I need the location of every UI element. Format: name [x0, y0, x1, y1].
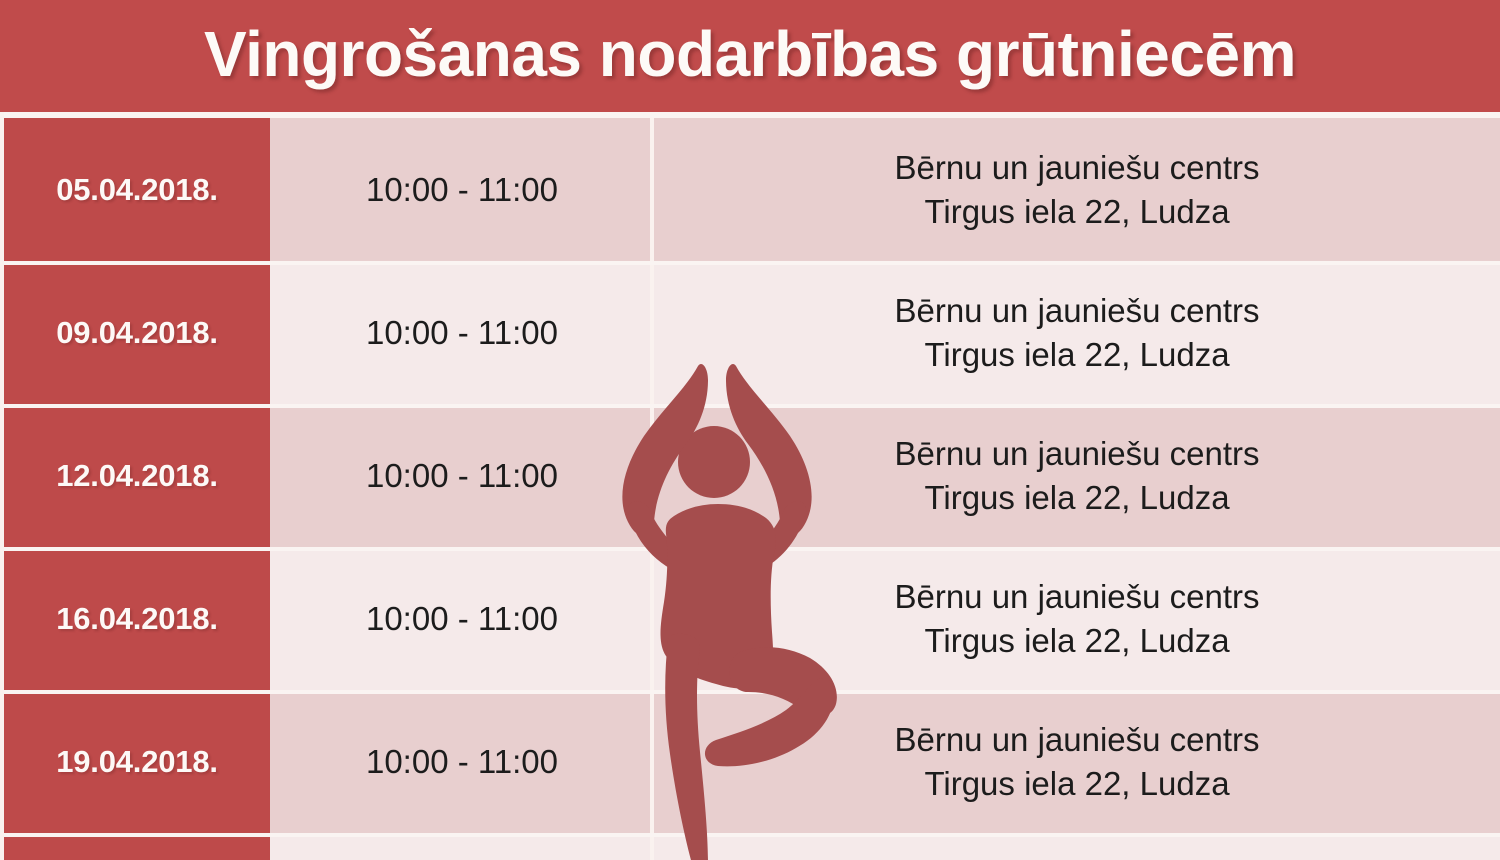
page-title: Vingrošanas nodarbības grūtniecēm: [204, 22, 1296, 90]
time-text: 10:00 - 11:00: [366, 314, 558, 352]
venue-name: Bērnu un jauniešu centrs: [894, 289, 1259, 333]
table-row: [0, 833, 1500, 860]
date-cell: 12.04.2018.: [4, 404, 270, 547]
time-cell: 10:00 - 11:00: [274, 547, 650, 690]
poster-canvas: Vingrošanas nodarbības grūtniecēm 05.04.…: [0, 0, 1500, 860]
date-text: 16.04.2018.: [56, 601, 218, 637]
time-text: 10:00 - 11:00: [366, 457, 558, 495]
table-row: 12.04.2018.10:00 - 11:00Bērnu un jaunieš…: [0, 404, 1500, 547]
time-text: 10:00 - 11:00: [366, 743, 558, 781]
venue-cell: Bērnu un jauniešu centrsTirgus iela 22, …: [654, 118, 1500, 261]
time-text: 10:00 - 11:00: [366, 171, 558, 209]
time-cell: 10:00 - 11:00: [274, 690, 650, 833]
venue-cell: Bērnu un jauniešu centrsTirgus iela 22, …: [654, 404, 1500, 547]
time-text: 10:00 - 11:00: [366, 600, 558, 638]
time-cell: 10:00 - 11:00: [274, 404, 650, 547]
time-cell: 10:00 - 11:00: [274, 118, 650, 261]
venue-name: Bērnu un jauniešu centrs: [894, 146, 1259, 190]
venue-name: Bērnu un jauniešu centrs: [894, 432, 1259, 476]
venue-cell: Bērnu un jauniešu centrsTirgus iela 22, …: [654, 261, 1500, 404]
venue-cell: Bērnu un jauniešu centrsTirgus iela 22, …: [654, 690, 1500, 833]
time-cell: [274, 833, 650, 860]
venue-address: Tirgus iela 22, Ludza: [924, 333, 1229, 377]
table-row: 16.04.2018.10:00 - 11:00Bērnu un jaunieš…: [0, 547, 1500, 690]
venue-address: Tirgus iela 22, Ludza: [924, 476, 1229, 520]
time-cell: 10:00 - 11:00: [274, 261, 650, 404]
table-row: 05.04.2018.10:00 - 11:00Bērnu un jaunieš…: [0, 118, 1500, 261]
date-text: 05.04.2018.: [56, 172, 218, 208]
schedule-table: 05.04.2018.10:00 - 11:00Bērnu un jaunieš…: [0, 118, 1500, 860]
venue-address: Tirgus iela 22, Ludza: [924, 619, 1229, 663]
date-cell: [4, 833, 270, 860]
venue-address: Tirgus iela 22, Ludza: [924, 762, 1229, 806]
venue-cell: Bērnu un jauniešu centrsTirgus iela 22, …: [654, 547, 1500, 690]
poster-header-band: Vingrošanas nodarbības grūtniecēm: [0, 0, 1500, 112]
date-text: 12.04.2018.: [56, 458, 218, 494]
date-cell: 05.04.2018.: [4, 118, 270, 261]
date-cell: 16.04.2018.: [4, 547, 270, 690]
date-cell: 19.04.2018.: [4, 690, 270, 833]
venue-cell: [654, 833, 1500, 860]
venue-name: Bērnu un jauniešu centrs: [894, 718, 1259, 762]
date-text: 09.04.2018.: [56, 315, 218, 351]
table-row: 19.04.2018.10:00 - 11:00Bērnu un jaunieš…: [0, 690, 1500, 833]
date-text: 19.04.2018.: [56, 744, 218, 780]
venue-address: Tirgus iela 22, Ludza: [924, 190, 1229, 234]
left-edge-strip: [0, 112, 4, 860]
table-row: 09.04.2018.10:00 - 11:00Bērnu un jaunieš…: [0, 261, 1500, 404]
date-cell: 09.04.2018.: [4, 261, 270, 404]
venue-name: Bērnu un jauniešu centrs: [894, 575, 1259, 619]
